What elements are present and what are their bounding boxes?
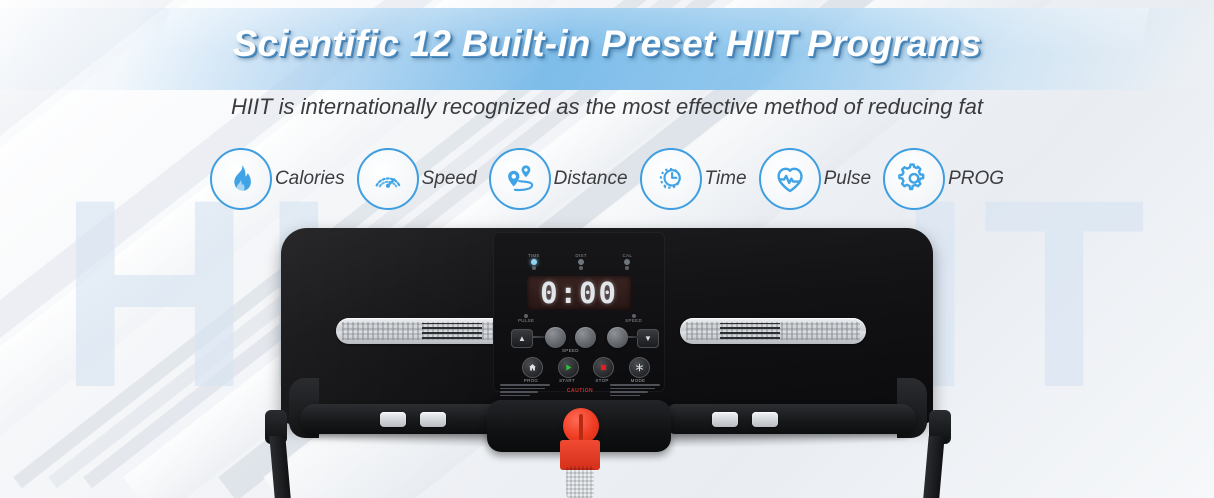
map-pin-icon bbox=[489, 148, 551, 210]
feature-label-speed: Speed bbox=[422, 168, 477, 190]
preset-button-1[interactable] bbox=[545, 327, 566, 348]
mode-button[interactable] bbox=[629, 357, 650, 378]
panel-rail-left bbox=[532, 336, 546, 338]
safety-key-clip bbox=[566, 466, 594, 498]
page-subtitle: HIIT is internationally recognized as th… bbox=[0, 94, 1214, 120]
promotional-banner: HI IT Scientific 12 Built-in Preset HIIT… bbox=[0, 0, 1214, 498]
speed-up-button[interactable]: ▲ bbox=[511, 329, 533, 348]
heart-pulse-icon bbox=[759, 148, 821, 210]
quick-speed-button-4[interactable] bbox=[752, 412, 778, 427]
handlebar-right bbox=[668, 404, 916, 434]
mode-button-label: MODE bbox=[623, 378, 653, 383]
console-indicators-bottom: PULSE SPEED bbox=[518, 313, 642, 323]
caution-label: CAUTION bbox=[567, 388, 593, 394]
feature-distance: Distance bbox=[489, 148, 628, 210]
clock-icon bbox=[640, 148, 702, 210]
stop-button[interactable] bbox=[593, 357, 614, 378]
square-icon bbox=[599, 363, 608, 372]
indicator-cal: CAL bbox=[623, 253, 633, 270]
console-indicators-top: TIME DIST CAL bbox=[510, 253, 650, 270]
prog-button-label: PROG bbox=[516, 378, 546, 383]
feature-label-calories: Calories bbox=[275, 168, 345, 190]
feature-time: Time bbox=[640, 148, 747, 210]
play-icon bbox=[564, 363, 573, 372]
prog-button[interactable] bbox=[522, 357, 543, 378]
speed-tag-label: SPEED bbox=[562, 348, 579, 353]
fan-icon bbox=[635, 363, 644, 372]
start-button-label: START bbox=[552, 378, 582, 383]
stop-button-label: STOP bbox=[587, 378, 617, 383]
preset-button-3[interactable] bbox=[607, 327, 628, 348]
feature-pulse: Pulse bbox=[759, 148, 872, 210]
support-post-left bbox=[269, 436, 290, 498]
panel-rail-right bbox=[627, 336, 638, 338]
flame-icon bbox=[210, 148, 272, 210]
preset-button-2[interactable] bbox=[575, 327, 596, 348]
support-post-right bbox=[923, 436, 944, 498]
led-display: 0:00 bbox=[527, 276, 631, 310]
speedometer-icon bbox=[357, 148, 419, 210]
feature-label-prog: PROG bbox=[948, 168, 1004, 190]
quick-speed-button-1[interactable] bbox=[380, 412, 406, 427]
home-icon bbox=[528, 363, 537, 372]
speaker-grille-right bbox=[680, 318, 866, 344]
feature-list: Calories Speed bbox=[0, 148, 1214, 210]
warning-fineprint: CAUTION bbox=[500, 384, 660, 398]
indicator-time: TIME bbox=[528, 253, 540, 270]
speed-down-button[interactable]: ▼ bbox=[637, 329, 659, 348]
page-title: Scientific 12 Built-in Preset HIIT Progr… bbox=[0, 23, 1214, 65]
watermark-right-text: IT bbox=[898, 178, 1156, 408]
indicator-speed: SPEED bbox=[625, 313, 642, 323]
gear-icon bbox=[883, 148, 945, 210]
indicator-pulse: PULSE bbox=[518, 313, 534, 323]
indicator-dist: DIST bbox=[575, 253, 586, 270]
feature-prog: PROG bbox=[883, 148, 1004, 210]
quick-speed-button-3[interactable] bbox=[712, 412, 738, 427]
feature-calories: Calories bbox=[210, 148, 345, 210]
treadmill-image: TIME DIST CAL 0:00 PULSE SPEED bbox=[0, 0, 1214, 498]
led-display-value: 0:00 bbox=[540, 279, 618, 308]
feature-label-time: Time bbox=[705, 168, 747, 190]
safety-key[interactable] bbox=[563, 408, 599, 444]
quick-speed-button-2[interactable] bbox=[420, 412, 446, 427]
feature-label-distance: Distance bbox=[554, 168, 628, 190]
start-button[interactable] bbox=[558, 357, 579, 378]
feature-speed: Speed bbox=[357, 148, 477, 210]
feature-label-pulse: Pulse bbox=[824, 168, 872, 190]
